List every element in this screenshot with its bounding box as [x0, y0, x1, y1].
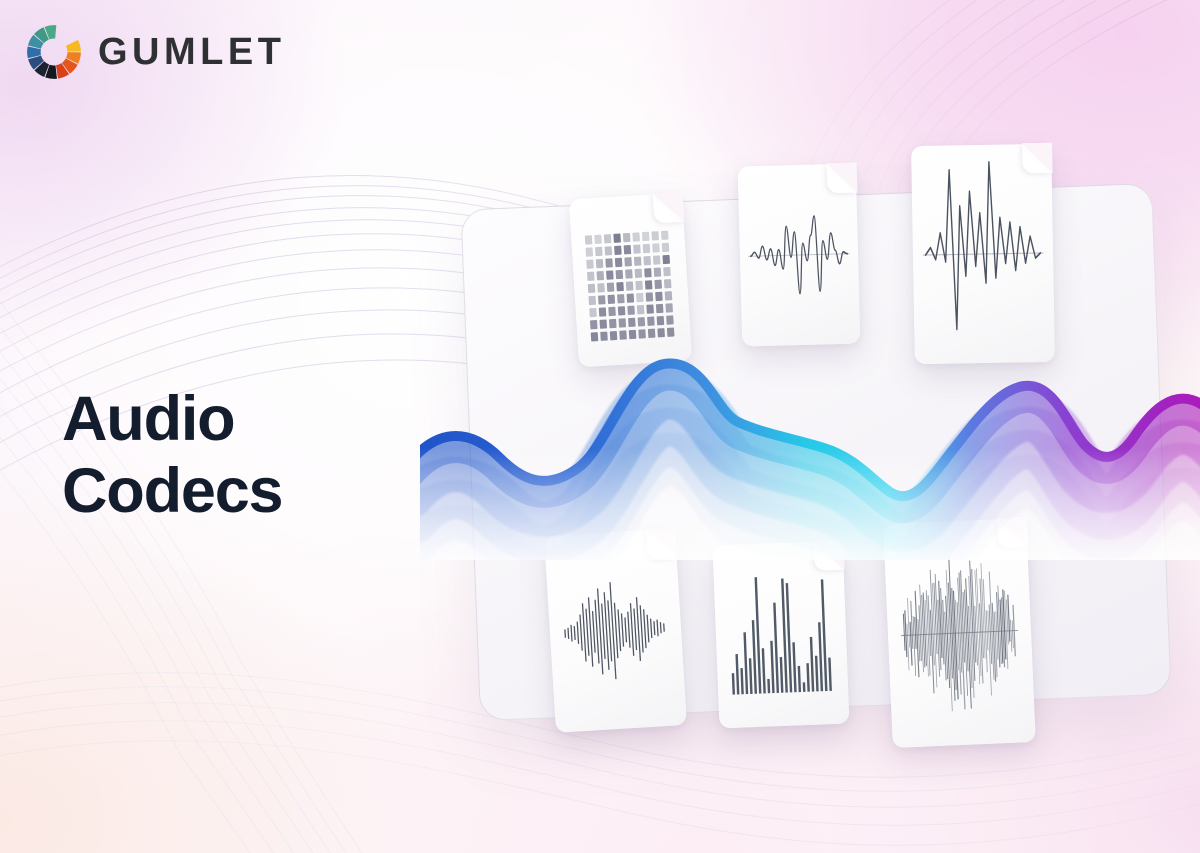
brand-wordmark: GUMLET [98, 33, 285, 71]
page-fold-mask [812, 540, 844, 572]
waveform-line-card[interactable] [738, 163, 861, 346]
jagged-waveform-card[interactable] [911, 144, 1055, 364]
spectrogram-card[interactable] [569, 193, 692, 368]
page-fold-mask [645, 527, 678, 560]
page-fold-mask [1021, 143, 1053, 175]
gumlet-color-wheel-icon [26, 24, 82, 80]
hero-banner: GUMLET Audio Codecs [0, 0, 1200, 853]
dense-oscillogram-icon [883, 518, 1036, 748]
page-fold-mask [826, 162, 858, 194]
bar-chart-card[interactable] [713, 541, 850, 729]
oscillogram-card[interactable] [883, 518, 1036, 748]
brand-logo[interactable]: GUMLET [26, 24, 285, 80]
symmetric-waveform-card[interactable] [544, 528, 687, 733]
page-fold-mask [996, 517, 1028, 549]
jagged-waveform-icon [911, 144, 1055, 364]
page-title: Audio Codecs [62, 383, 282, 528]
page-fold-mask [652, 192, 685, 225]
symmetric-bar-waveform-icon [544, 528, 687, 733]
